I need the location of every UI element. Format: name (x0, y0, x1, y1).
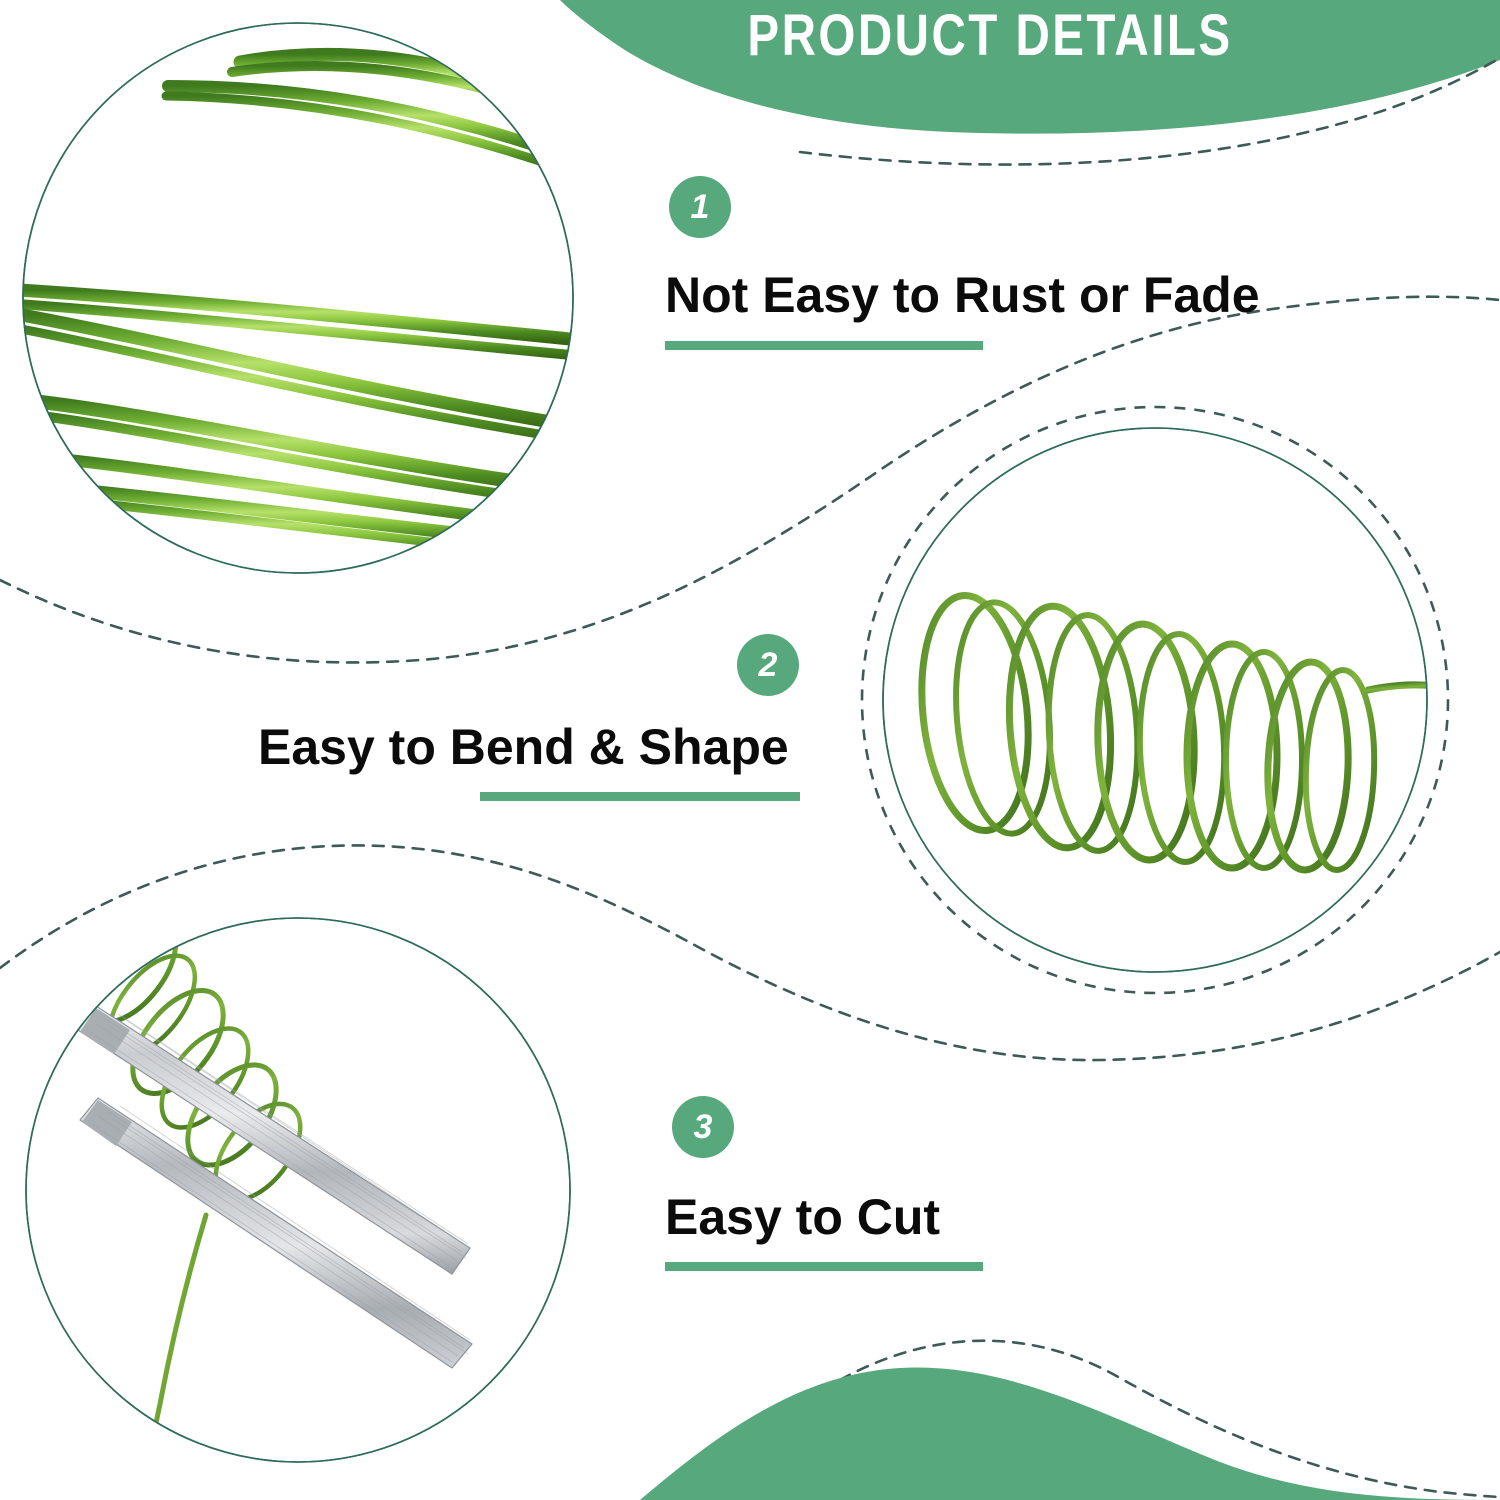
page-title: PRODUCT DETAILS (703, 6, 1277, 67)
feature-rule-3 (665, 1262, 983, 1271)
content-layer: PRODUCT DETAILS 1 Not Easy to Rust or Fa… (0, 0, 1500, 1500)
feature-title-3: Easy to Cut (665, 1192, 940, 1242)
feature-badge-3: 3 (672, 1096, 734, 1158)
feature-rule-2 (480, 792, 800, 801)
product-details-infographic: PRODUCT DETAILS 1 Not Easy to Rust or Fa… (0, 0, 1500, 1500)
feature-rule-1 (665, 341, 983, 350)
feature-badge-1: 1 (669, 176, 731, 238)
feature-badge-2: 2 (737, 634, 799, 696)
feature-title-1: Not Easy to Rust or Fade (665, 270, 1260, 320)
feature-title-2: Easy to Bend & Shape (258, 722, 789, 772)
